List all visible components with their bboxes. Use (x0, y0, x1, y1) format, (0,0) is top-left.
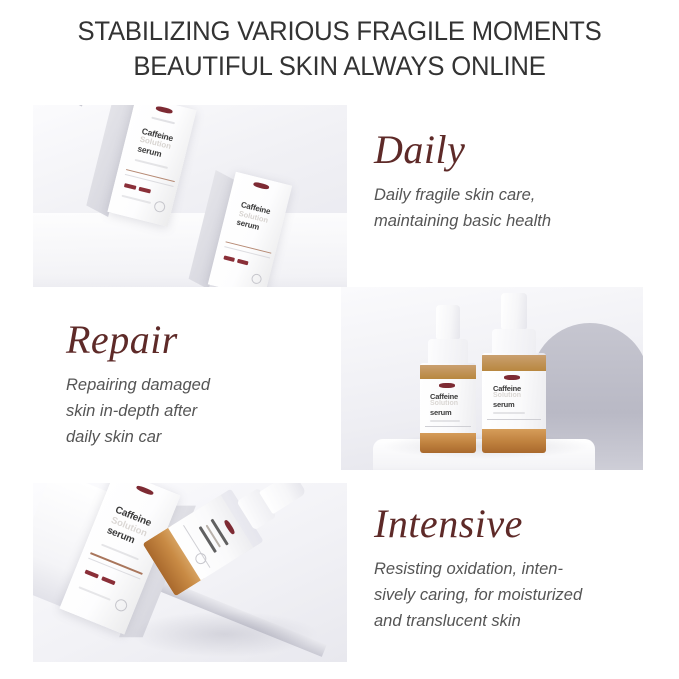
brand-badge-icon (223, 519, 236, 535)
bottle-3-shadow (129, 611, 319, 657)
dropper-bottle-2: Caffeine Solution serum (479, 293, 549, 453)
carton-3-copper-rule (90, 552, 143, 574)
feature-description-daily: Daily fragile skin care, maintaining bas… (374, 182, 674, 234)
carton-2-swatch-a (223, 255, 235, 262)
brand-badge-icon (504, 375, 520, 380)
carton-2-swatch-b (237, 259, 249, 266)
carton-1-subtext (135, 159, 168, 169)
page-title: STABILIZING VARIOUS FRAGILE MOMENTS BEAU… (17, 14, 662, 84)
bottle-1-subtext (430, 420, 460, 422)
feature-description-intensive: Resisting oxidation, inten- sively carin… (374, 556, 674, 634)
daily-line-2: maintaining basic health (374, 208, 674, 234)
repair-line-3: daily skin car (66, 424, 336, 450)
brand-badge-icon (439, 383, 455, 388)
intensive-line-3: and translucent skin (374, 608, 674, 634)
headline-line-1: STABILIZING VARIOUS FRAGILE MOMENTS (17, 14, 662, 49)
product-photo-bottles: Caffeine Solution serum Caffeine Solutio… (341, 287, 643, 470)
product-photo-cartons: Caffeine Solution serum Caffeine Solutio… (33, 105, 347, 287)
carton-1-microtext (151, 117, 175, 124)
feature-heading-intensive: Intensive (374, 502, 674, 546)
bottle-2-serum (482, 427, 546, 453)
carton-1-footnote (121, 195, 151, 204)
dropper-bottle-1: Caffeine Solution serum (416, 305, 480, 453)
bottle-2-serum-top (482, 355, 546, 371)
carton-1-swatch-b (138, 187, 151, 194)
bottle-1-name-line3: serum (430, 408, 452, 417)
bottle-2-cap (501, 293, 527, 329)
carton-1-seal-icon (153, 200, 166, 213)
bottle-1-cap (436, 305, 460, 339)
carton-2-seal-icon (251, 273, 263, 285)
bottle-2-glass: Caffeine Solution serum (482, 353, 546, 453)
bottle-2-name-line2: Solution (493, 392, 521, 399)
headline-line-2: BEAUTIFUL SKIN ALWAYS ONLINE (17, 49, 662, 84)
carton-3-seal-icon (113, 597, 129, 613)
carton-3-swatch-b (101, 576, 115, 585)
bottle-1-serum-top (420, 365, 476, 379)
repair-line-2: skin in-depth after (66, 398, 336, 424)
carton-3-footnote (78, 586, 110, 601)
bottle-1-glass: Caffeine Solution serum (420, 363, 476, 453)
feature-heading-daily: Daily (374, 128, 674, 172)
carton-3-swatch-a (84, 570, 98, 579)
bottle-2-subtext (493, 412, 525, 414)
bottle-1-name-line2: Solution (430, 400, 458, 407)
intensive-line-1: Resisting oxidation, inten- (374, 556, 674, 582)
bottle-2-label: Caffeine Solution serum (482, 371, 546, 429)
feature-block-repair: Repair Repairing damaged skin in-depth a… (66, 318, 336, 450)
feature-block-daily: Daily Daily fragile skin care, maintaini… (374, 128, 674, 234)
bottle-2-divider (487, 419, 541, 420)
brand-badge-icon (253, 181, 270, 190)
daily-line-1: Daily fragile skin care, (374, 182, 674, 208)
bottle-2-name-line3: serum (493, 400, 515, 409)
brand-badge-icon (155, 105, 173, 114)
repair-line-1: Repairing damaged (66, 372, 336, 398)
feature-description-repair: Repairing damaged skin in-depth after da… (66, 372, 336, 450)
intensive-line-2: sively caring, for moisturized (374, 582, 674, 608)
carton-1-swatch-a (124, 183, 137, 190)
feature-block-intensive: Intensive Resisting oxidation, inten- si… (374, 502, 674, 634)
feature-heading-repair: Repair (66, 318, 336, 362)
brand-badge-icon (136, 485, 155, 496)
bottle-1-serum (420, 431, 476, 453)
bottle-1-label: Caffeine Solution serum (420, 379, 476, 433)
bottle-1-divider (425, 426, 471, 427)
product-photo-carton-and-bottle: Caffeine Solution serum (33, 483, 347, 662)
